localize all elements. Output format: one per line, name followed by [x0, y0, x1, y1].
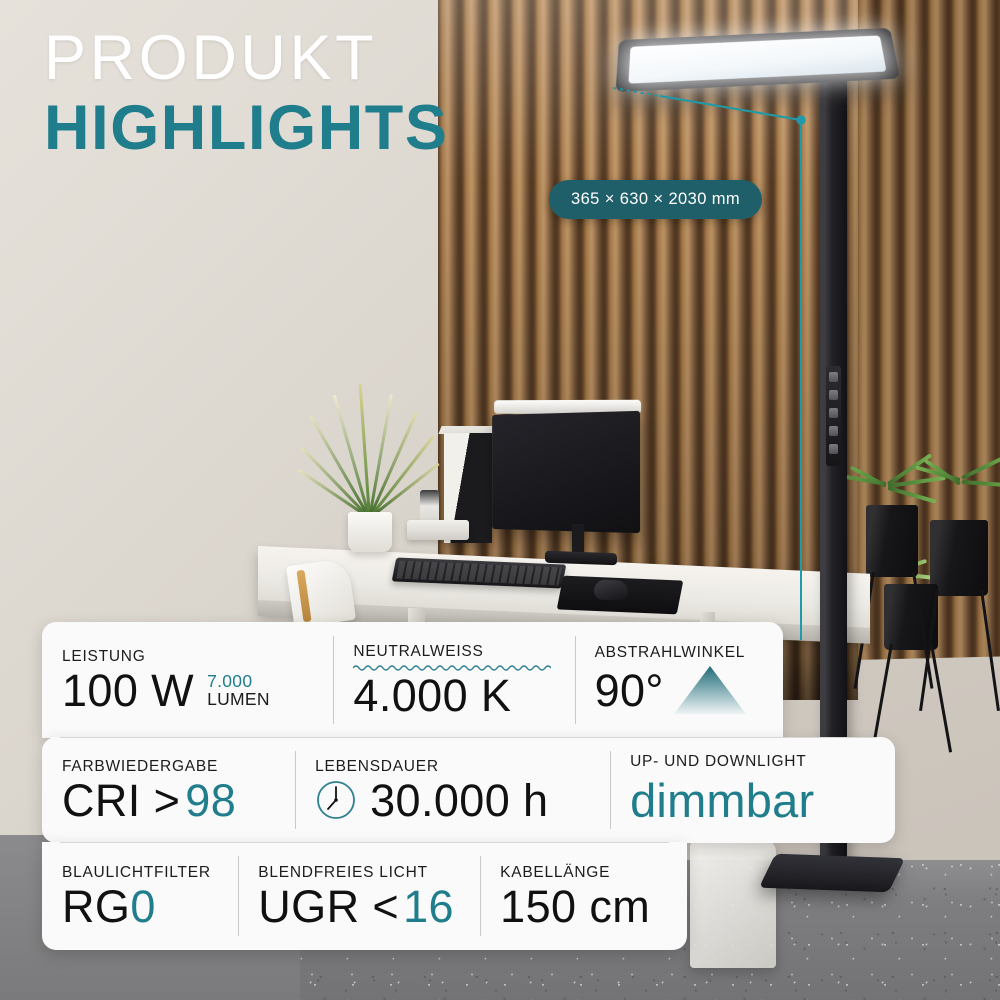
spec-value: 30.000 h	[315, 778, 590, 823]
ornamental-grass-plant	[300, 378, 440, 518]
spec-value-text: 90°	[595, 668, 664, 713]
spec-label: LEISTUNG	[62, 648, 313, 666]
spec-row-1: LEISTUNG 100 W 7.000 LUMEN NEUTRALWEISS …	[42, 622, 783, 738]
lamp-button-icon	[829, 444, 838, 454]
spec-label: LEBENSDAUER	[315, 758, 590, 776]
lumen-amount: 7.000	[207, 672, 270, 690]
spec-value: CRI > 98	[62, 778, 275, 823]
monitor-screen	[492, 411, 640, 533]
spec-blendfreies-licht: BLENDFREIES LICHT UGR < 16	[238, 842, 480, 950]
spec-value: 150 cm	[500, 884, 667, 929]
monitor-stand-base	[545, 551, 617, 566]
spec-lebensdauer: LEBENSDAUER 30.000 h	[295, 737, 610, 843]
product-highlight-image: PRODUKT HIGHLIGHTS 365 × 630 × 2030 mm L…	[0, 0, 1000, 1000]
planter-pot-a	[866, 505, 918, 577]
spec-label: ABSTRAHLWINKEL	[595, 644, 763, 662]
spec-farbwiedergabe: FARBWIEDERGABE CRI > 98	[42, 737, 295, 843]
title-line-highlights: HIGHLIGHTS	[44, 98, 449, 160]
lumen-unit: LUMEN	[207, 690, 270, 708]
spec-label: BLAULICHTFILTER	[62, 864, 218, 882]
spec-neutralweiss: NEUTRALWEISS 4.000 K	[333, 622, 574, 738]
spec-blaulichtfilter: BLAULICHTFILTER RG 0	[42, 842, 238, 950]
spec-label: NEUTRALWEISS	[353, 643, 554, 661]
spec-label: FARBWIEDERGABE	[62, 758, 275, 776]
plant-pot	[348, 512, 392, 552]
spec-value-prefix: CRI >	[62, 778, 180, 823]
computer-mouse	[594, 579, 628, 600]
spec-cards: LEISTUNG 100 W 7.000 LUMEN NEUTRALWEISS …	[42, 622, 895, 950]
spec-value-accent: 98	[185, 778, 236, 823]
title-line-produkt: PRODUKT	[44, 28, 449, 90]
spec-value: 90°	[595, 664, 763, 716]
spec-value-text: 100 W	[62, 668, 194, 713]
lamp-control-panel	[826, 366, 841, 466]
planter-pot-b	[930, 520, 988, 596]
lamp-button-icon	[829, 408, 838, 418]
spec-value-text: 30.000 h	[370, 778, 548, 823]
lamp-button-icon	[829, 372, 838, 382]
spec-label: BLENDFREIES LICHT	[258, 864, 460, 882]
spec-label: UP- UND DOWNLIGHT	[630, 753, 875, 771]
spec-value: UGR < 16	[258, 884, 460, 929]
page-title: PRODUKT HIGHLIGHTS	[44, 28, 449, 159]
spec-value-accent: 0	[130, 884, 155, 929]
spec-value: 4.000 K	[353, 673, 554, 718]
spec-row-3: BLAULICHTFILTER RG 0 BLENDFREIES LICHT U…	[42, 842, 687, 950]
spec-row-2: FARBWIEDERGABE CRI > 98 LEBENSDAUER 30.0…	[42, 737, 895, 843]
lumen-sub: 7.000 LUMEN	[207, 672, 270, 708]
spec-value-prefix: UGR <	[258, 884, 399, 929]
spec-dimmbar: UP- UND DOWNLIGHT dimmbar	[610, 737, 895, 843]
lamp-button-icon	[829, 426, 838, 436]
spec-leistung: LEISTUNG 100 W 7.000 LUMEN	[42, 622, 333, 738]
spec-value-accent: dimmbar	[630, 773, 875, 828]
dimension-badge: 365 × 630 × 2030 mm	[549, 180, 762, 219]
fern-plant-b	[918, 448, 1000, 524]
clock-icon	[315, 779, 357, 821]
beam-triangle-icon	[673, 664, 747, 716]
spec-kabellaenge: KABELLÄNGE 150 cm	[480, 842, 687, 950]
spec-value: RG 0	[62, 884, 218, 929]
spec-label: KABELLÄNGE	[500, 864, 667, 882]
lamp-button-icon	[829, 390, 838, 400]
desk-phone-base	[407, 520, 469, 540]
spec-abstrahlwinkel: ABSTRAHLWINKEL 90°	[575, 622, 783, 738]
spec-value: 100 W 7.000 LUMEN	[62, 668, 313, 713]
spec-value-prefix: RG	[62, 884, 130, 929]
spec-value-accent: 16	[403, 884, 454, 929]
